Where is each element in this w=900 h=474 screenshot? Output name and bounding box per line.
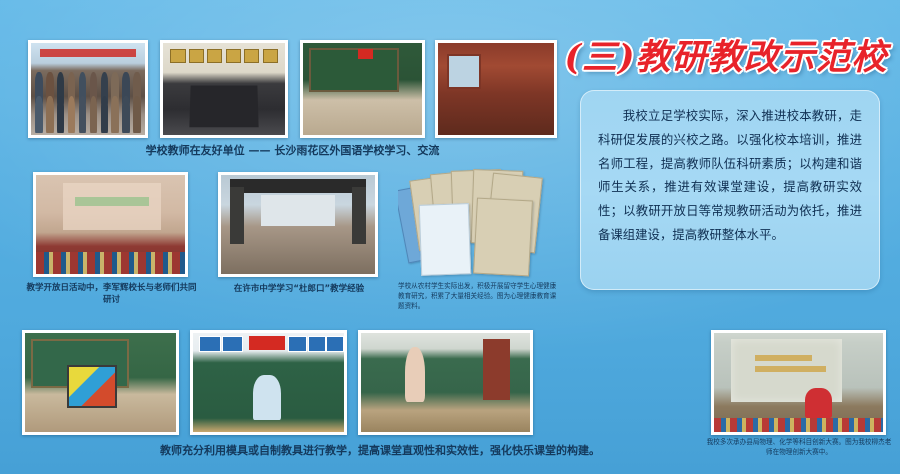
- description-text: 我校立足学校实际，深入推进校本教研，走科研促发展的兴校之路。以强化校本培训，推进…: [598, 104, 862, 247]
- projected-banner-text: [75, 197, 150, 206]
- anatomy-model: [405, 347, 425, 402]
- school-building: [261, 195, 335, 227]
- photo-banner-strip: [40, 49, 136, 57]
- gate-arch-sign: [230, 179, 366, 193]
- caption-row2-right: 学校从农村学生实际出发，积极开展留守学生心理健康教育研究，积累了大量相关经验。图…: [398, 282, 558, 312]
- gate-pillar-left: [230, 187, 244, 244]
- photo-map-lesson-image: [25, 333, 176, 432]
- classroom-door: [483, 339, 510, 400]
- photo-people-row-front: [33, 96, 142, 133]
- photo-physics-contest-image: [714, 333, 883, 432]
- caption-row2-mid: 在许市中学学习“杜郎口”教学经验: [210, 283, 388, 295]
- photo-geometry-lesson-image: [193, 333, 344, 432]
- photo-conference-meeting: [160, 40, 288, 138]
- wall-sign-5: [326, 336, 344, 352]
- slide-text-line-1: [755, 355, 812, 361]
- slide-text-line-2: [755, 366, 826, 372]
- photo-group-portrait-image: [31, 43, 145, 135]
- wall-certificates: [170, 49, 277, 64]
- national-flag: [249, 336, 285, 350]
- gate-pillar-right: [352, 187, 366, 244]
- projection-screen: [63, 183, 161, 231]
- wall-sign-2: [222, 336, 244, 352]
- photo-geometry-lesson: [190, 330, 347, 435]
- wall-sign-1: [199, 336, 221, 352]
- photo-classroom-listening: [300, 40, 425, 138]
- desk-cloth: [714, 418, 883, 432]
- poster-root: 学校教师在友好单位 —— 长沙雨花区外国语学校学习、交流 教学开放日活动中，: [0, 0, 900, 474]
- blackboard: [309, 48, 399, 92]
- photo-research-documents: [398, 168, 558, 280]
- photo-physics-contest: [711, 330, 886, 435]
- photo-research-documents-image: [398, 168, 558, 280]
- photo-open-day-forum: [33, 172, 188, 277]
- photo-school-gate-visit: [218, 172, 378, 277]
- presenter-figure: [805, 388, 832, 418]
- caption-row3: 教师充分利用模具或自制教具进行教学，提高课堂直观性和实效性，强化快乐课堂的构建。: [110, 443, 650, 459]
- map-teaching-aid: [67, 365, 116, 409]
- photo-anatomy-lesson: [358, 330, 533, 435]
- table-cloth: [36, 252, 185, 274]
- national-flag: [358, 49, 373, 58]
- photo-group-portrait: [28, 40, 148, 138]
- photo-open-day-forum-image: [36, 175, 185, 274]
- caption-row3-right: 我校多次承办县局物理、化学等科目创新大赛。图为我校柳杰老师在物理创新大赛中。: [706, 438, 892, 458]
- photo-visitors-outdoor-image: [438, 43, 554, 135]
- photo-classroom-listening-image: [303, 43, 422, 135]
- photo-visitors-outdoor: [435, 40, 557, 138]
- photo-map-lesson: [22, 330, 179, 435]
- photo-anatomy-lesson-image: [361, 333, 530, 432]
- caption-row1: 学校教师在友好单位 —— 长沙雨花区外国语学校学习、交流: [28, 143, 557, 159]
- meeting-table: [189, 86, 259, 128]
- building-window: [447, 54, 481, 89]
- wall-sign-3: [288, 336, 307, 352]
- description-panel: 我校立足学校实际，深入推进校本教研，走科研促发展的兴校之路。以强化校本培训，推进…: [580, 90, 880, 290]
- photo-conference-meeting-image: [163, 43, 285, 135]
- student-presenter: [253, 375, 280, 421]
- wall-sign-4: [308, 336, 327, 352]
- caption-row2-left: 教学开放日活动中，李军辉校长与老师们共同研讨: [24, 282, 199, 307]
- photo-school-gate-visit-image: [221, 175, 375, 274]
- page-title: (三)教研教改示范校: [560, 26, 892, 82]
